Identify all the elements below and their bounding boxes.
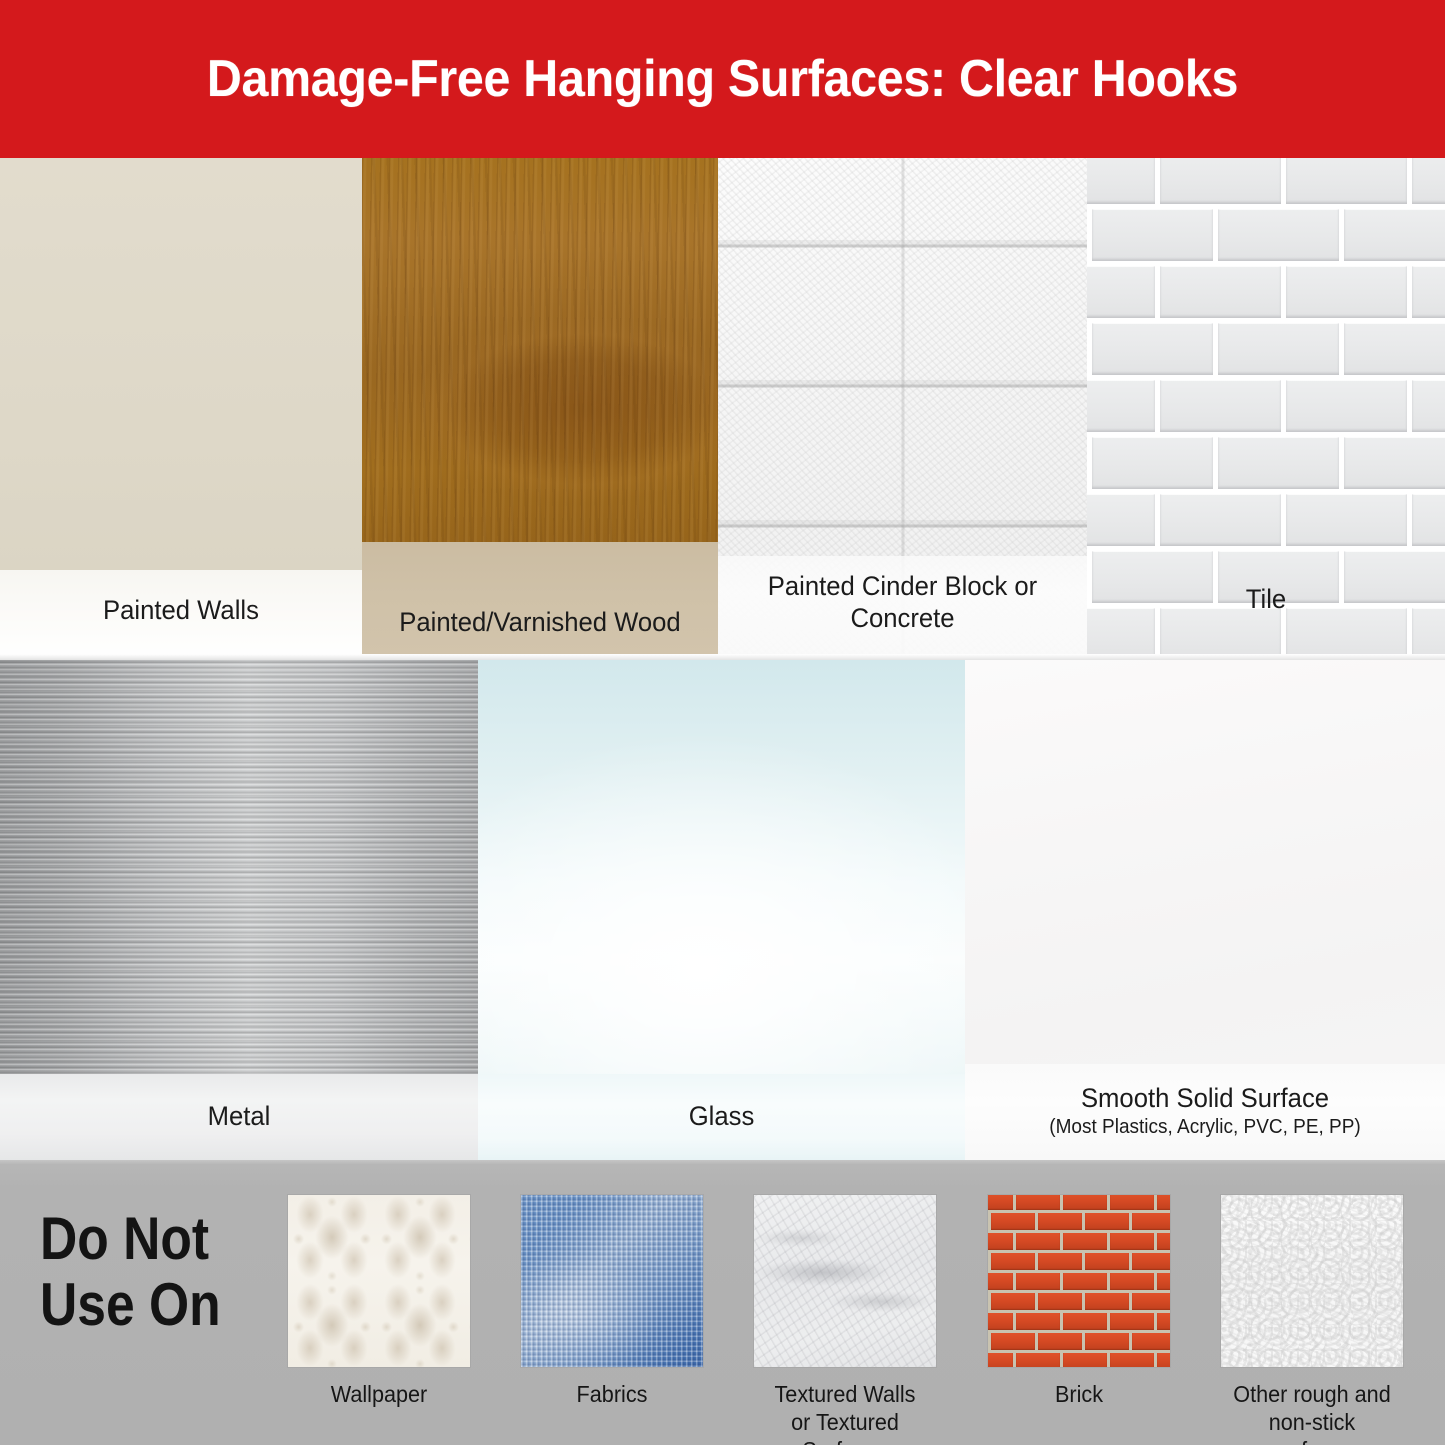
rough-stucco-swatch — [1221, 1195, 1403, 1367]
tile-unit — [1218, 209, 1339, 261]
do-not-use-item-brick: Brick — [988, 1195, 1170, 1408]
brick-unit — [991, 1333, 1035, 1350]
brick-unit — [1157, 1233, 1170, 1250]
brick-unit — [1110, 1313, 1154, 1330]
surface-card-metal: Metal — [0, 660, 478, 1160]
do-not-use-title-line2: Use On — [40, 1272, 255, 1338]
brick-wall-swatch — [988, 1195, 1170, 1367]
brick-unit — [1063, 1195, 1107, 1210]
brick-unit — [991, 1293, 1035, 1310]
surface-label-text: Smooth Solid Surface — [1081, 1083, 1329, 1113]
tile-unit — [1286, 608, 1407, 660]
do-not-use-label-wallpaper: Wallpaper — [293, 1380, 464, 1408]
damask-wallpaper-swatch — [288, 1195, 470, 1367]
surface-label-painted-cinder-block: Painted Cinder Block or Concrete — [727, 570, 1078, 634]
do-not-use-title: Do Not Use On — [40, 1206, 255, 1338]
tile-unit — [1160, 494, 1281, 546]
brick-unit — [1063, 1353, 1107, 1367]
surface-label-painted-varnished-wood: Painted/Varnished Wood — [371, 606, 709, 638]
brick-unit — [1016, 1195, 1060, 1210]
brick-unit — [1038, 1213, 1082, 1230]
do-not-use-section: Do Not Use On Wallpaper Fabrics Textured… — [0, 1160, 1445, 1445]
tile-unit — [1092, 209, 1213, 261]
tile-unit — [1344, 323, 1445, 375]
surface-card-smooth-solid-surface: Smooth Solid Surface (Most Plastics, Acr… — [965, 660, 1445, 1160]
tile-unit — [1087, 266, 1155, 318]
do-not-use-label-fabrics: Fabrics — [526, 1380, 697, 1408]
textured-wall-swatch — [754, 1195, 936, 1367]
brick-unit — [1157, 1195, 1170, 1210]
tile-unit — [1412, 266, 1445, 318]
tile-unit — [1412, 494, 1445, 546]
brick-unit — [1157, 1313, 1170, 1330]
brick-unit — [1016, 1313, 1060, 1330]
brick-unit — [1063, 1233, 1107, 1250]
tile-unit — [1286, 494, 1407, 546]
brick-unit — [1132, 1213, 1170, 1230]
tile-unit — [1087, 158, 1155, 204]
brick-unit — [988, 1195, 1013, 1210]
brick-unit — [988, 1233, 1013, 1250]
page-title: Damage-Free Hanging Surfaces: Clear Hook… — [207, 49, 1238, 109]
denim-fabric-swatch — [521, 1195, 703, 1367]
header-banner: Damage-Free Hanging Surfaces: Clear Hook… — [0, 0, 1445, 158]
surface-card-painted-cinder-block: Painted Cinder Block or Concrete — [718, 158, 1087, 660]
section-top-edge — [0, 1160, 1445, 1165]
infographic-root: Damage-Free Hanging Surfaces: Clear Hook… — [0, 0, 1445, 1445]
do-not-use-item-wallpaper: Wallpaper — [288, 1195, 470, 1408]
tile-unit — [1286, 266, 1407, 318]
brick-unit — [1085, 1333, 1129, 1350]
brick-unit — [1132, 1293, 1170, 1310]
tile-unit — [1344, 209, 1445, 261]
surface-label-tile: Tile — [1096, 583, 1436, 615]
surface-card-tile: Tile — [1087, 158, 1445, 660]
brick-unit — [988, 1313, 1013, 1330]
label-line-1: Other rough and — [1226, 1380, 1397, 1408]
brick-unit — [1085, 1253, 1129, 1270]
brick-unit — [1132, 1253, 1170, 1270]
tile-unit — [1160, 158, 1281, 204]
brick-unit — [1016, 1353, 1060, 1367]
brick-unit — [988, 1273, 1013, 1290]
surface-sublabel-text: (Most Plastics, Acrylic, PVC, PE, PP) — [977, 1114, 1433, 1140]
do-not-use-item-textured-walls: Textured Walls or Textured Surfaces — [754, 1195, 936, 1445]
brick-unit — [1085, 1213, 1129, 1230]
brick-unit — [991, 1253, 1035, 1270]
brick-unit — [1063, 1273, 1107, 1290]
brick-unit — [1016, 1233, 1060, 1250]
do-not-use-label-textured-walls: Textured Walls or Textured Surfaces — [759, 1380, 930, 1445]
brick-unit — [1110, 1273, 1154, 1290]
brick-unit — [988, 1353, 1013, 1367]
tile-unit — [1412, 608, 1445, 660]
tile-unit — [1092, 437, 1213, 489]
tile-unit — [1286, 380, 1407, 432]
tile-unit — [1087, 380, 1155, 432]
label-line-2: non-stick surfaces — [1226, 1408, 1397, 1445]
brick-unit — [1038, 1333, 1082, 1350]
tile-unit — [1087, 494, 1155, 546]
do-not-use-item-fabrics: Fabrics — [521, 1195, 703, 1408]
caption-band — [362, 542, 718, 660]
surface-card-glass: Glass — [478, 660, 965, 1160]
tile-unit — [1160, 266, 1281, 318]
do-not-use-label-brick: Brick — [993, 1380, 1164, 1408]
brick-unit — [1038, 1253, 1082, 1270]
tile-unit — [1087, 608, 1155, 660]
brick-unit — [1016, 1273, 1060, 1290]
label-line-1: Textured Walls — [759, 1380, 930, 1408]
brick-unit — [1157, 1273, 1170, 1290]
tile-unit — [1344, 437, 1445, 489]
tile-unit — [1412, 380, 1445, 432]
tile-unit — [1160, 608, 1281, 660]
do-not-use-title-line1: Do Not — [40, 1206, 255, 1272]
tile-unit — [1412, 158, 1445, 204]
brick-unit — [1110, 1195, 1154, 1210]
surface-label-smooth-solid-surface: Smooth Solid Surface (Most Plastics, Acr… — [977, 1082, 1433, 1140]
tile-unit — [1286, 158, 1407, 204]
brick-unit — [1038, 1293, 1082, 1310]
surface-label-metal: Metal — [12, 1100, 466, 1132]
do-not-use-label-other-rough: Other rough and non-stick surfaces — [1226, 1380, 1397, 1445]
brick-unit — [1085, 1293, 1129, 1310]
brick-unit — [1110, 1353, 1154, 1367]
do-not-use-item-other-rough: Other rough and non-stick surfaces — [1221, 1195, 1403, 1445]
brick-unit — [1063, 1313, 1107, 1330]
brick-unit — [1157, 1353, 1170, 1367]
surface-label-painted-walls: Painted Walls — [9, 594, 353, 626]
tile-unit — [1092, 323, 1213, 375]
brick-unit — [1110, 1233, 1154, 1250]
tile-unit — [1160, 380, 1281, 432]
tile-unit — [1218, 437, 1339, 489]
tile-unit — [1218, 323, 1339, 375]
label-line-2: or Textured Surfaces — [759, 1408, 930, 1445]
surface-card-painted-varnished-wood: Painted/Varnished Wood — [362, 158, 718, 660]
brick-unit — [1132, 1333, 1170, 1350]
brick-unit — [991, 1213, 1035, 1230]
surface-card-painted-walls: Painted Walls — [0, 158, 362, 660]
surface-label-glass: Glass — [490, 1100, 953, 1132]
